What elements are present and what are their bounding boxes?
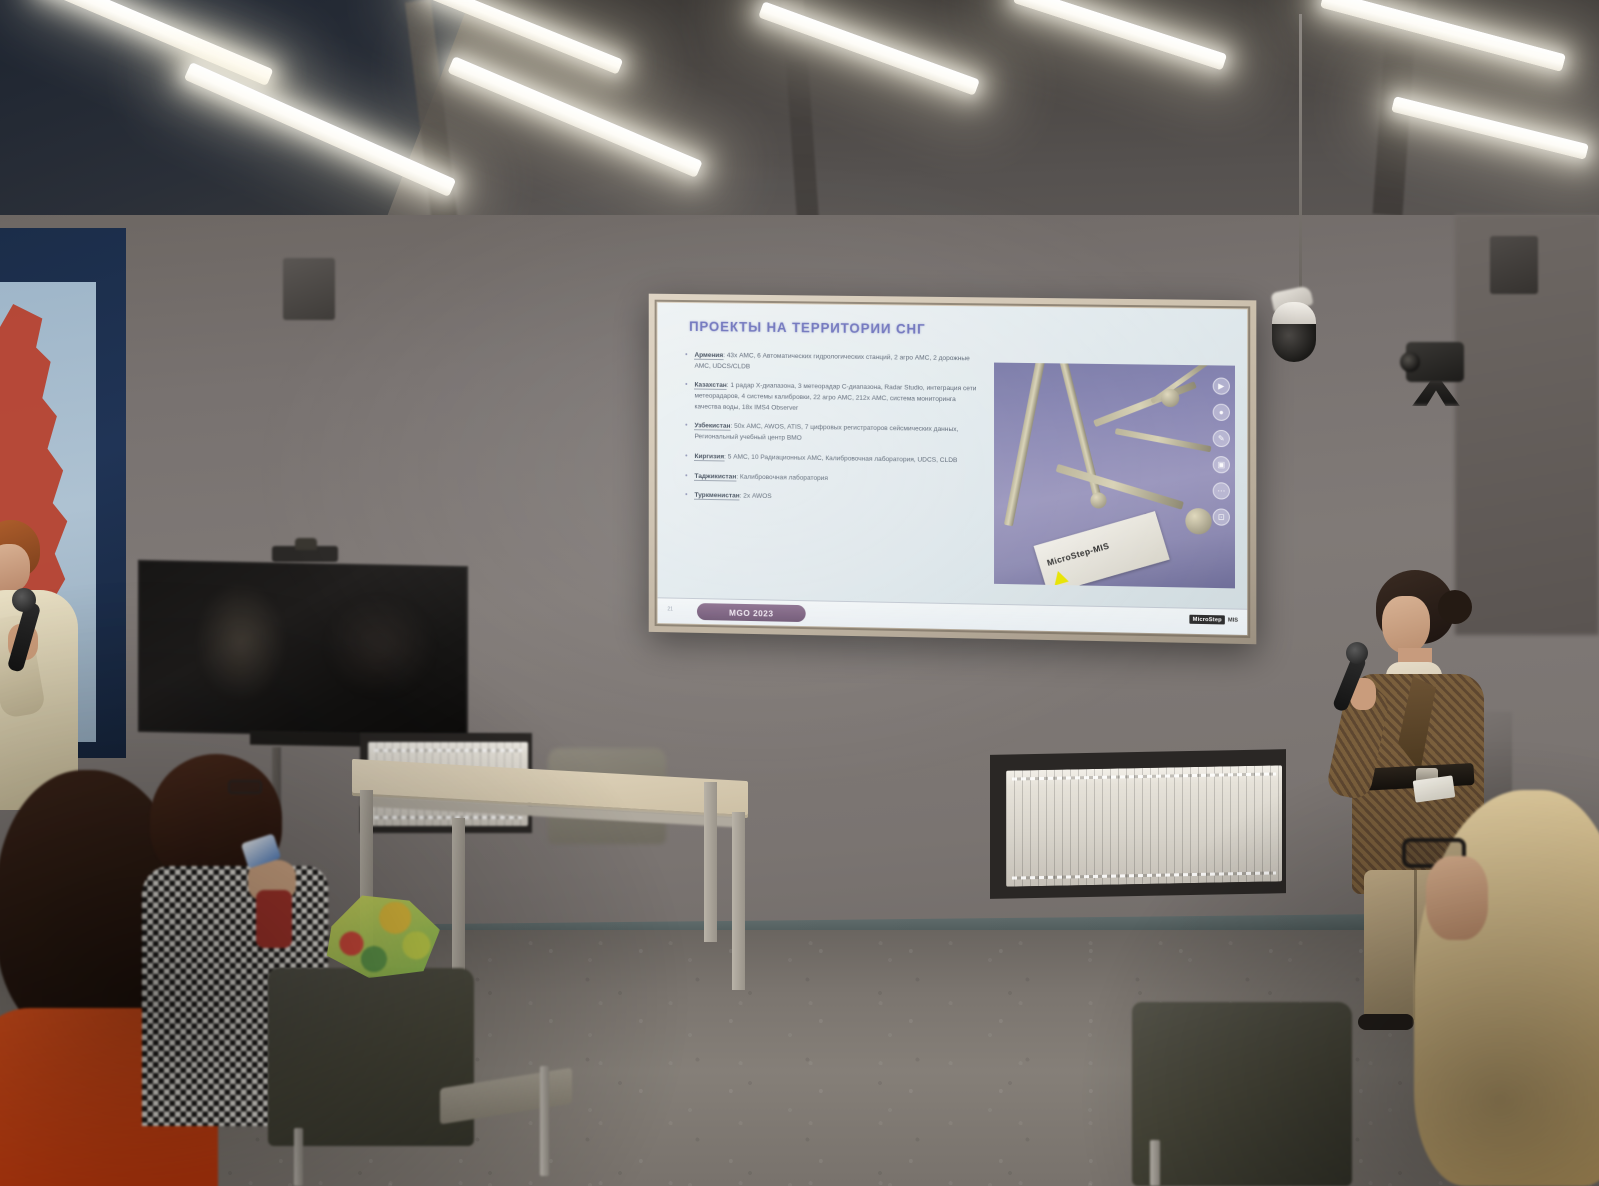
list-item: • Казахстан: 1 радар X-диапазона, 3 мете… [685, 381, 983, 417]
slide-bullet-list: • Армения: 43х AMC, 6 Автоматических гид… [685, 351, 983, 516]
bullet-dot-icon: • [685, 491, 687, 502]
bullet-detail: : 5 AMC, 10 Радиационных AMC, Калибровоч… [724, 453, 957, 464]
record-icon[interactable]: ● [1213, 404, 1230, 421]
presentation-slide: ПРОЕКТЫ НА ТЕРРИТОРИИ СНГ • Армения: 43х… [658, 303, 1248, 635]
slide-number: 21 [667, 606, 672, 612]
camera-lens [1400, 352, 1420, 372]
flat-screen-tv [138, 560, 468, 738]
red-scarf [256, 890, 292, 948]
face [1426, 856, 1488, 940]
bullet-dot-icon: • [685, 351, 687, 372]
radiator [1006, 765, 1282, 886]
bullet-content: Казахстан: 1 радар X-диапазона, 3 метеор… [694, 381, 983, 417]
list-item: • Туркменистан: 2х AWOS [685, 491, 983, 507]
slide-photo: MicroStep-MIS ▶ ● ✎ ▣ ⋯ ⊡ [994, 363, 1235, 589]
bullet-content: Узбекистан: 50х AMC, AWOS, ATIS, 7 цифро… [694, 422, 983, 448]
player-overlay-toolbar[interactable]: ▶ ● ✎ ▣ ⋯ ⊡ [1213, 377, 1230, 525]
play-icon[interactable]: ▶ [1213, 377, 1230, 394]
screen-glare [325, 595, 435, 697]
sensor-head [1090, 492, 1106, 508]
mast-crossbar [1150, 363, 1210, 404]
bullet-content: Киргизия: 5 AMC, 10 Радиационных AMC, Ка… [694, 452, 983, 467]
face [1382, 596, 1430, 654]
wall-speaker [283, 258, 335, 320]
equipment-label-plate: MicroStep-MIS [1034, 511, 1170, 588]
image-icon[interactable]: ▣ [1213, 456, 1230, 473]
glasses [228, 780, 262, 794]
bullet-dot-icon: • [685, 381, 687, 413]
slide-title: ПРОЕКТЫ НА ТЕРРИТОРИИ СНГ [689, 319, 925, 337]
brand-logo: MicroStep MIS [1190, 615, 1238, 625]
tv-mount-knob [295, 538, 317, 550]
bullet-dot-icon: • [685, 452, 687, 463]
brand-suffix: MIS [1228, 617, 1238, 623]
bullet-dot-icon: • [685, 422, 687, 443]
capture-icon[interactable]: ⊡ [1213, 508, 1230, 525]
bullet-country: Таджикистан [694, 472, 736, 481]
mast-pole [1004, 363, 1045, 527]
chair-leg [1150, 1140, 1160, 1186]
mast-arm [1093, 381, 1197, 427]
pen-icon[interactable]: ✎ [1213, 430, 1230, 447]
list-item: • Таджикистан: Калибровочная лаборатория [685, 471, 983, 487]
bullet-content: Туркменистан: 2х AWOS [694, 491, 983, 507]
bullet-dot-icon: • [685, 471, 687, 482]
chair-leg [540, 1066, 549, 1176]
wall-speaker [1490, 236, 1538, 294]
list-item: • Узбекистан: 50х AMC, AWOS, ATIS, 7 циф… [685, 422, 983, 448]
camera-pendant-rod [1299, 14, 1302, 289]
conference-room-photo: ПРОЕКТЫ НА ТЕРРИТОРИИ СНГ • Армения: 43х… [0, 0, 1599, 1186]
bullet-detail: : Калибровочная лаборатория [736, 473, 828, 481]
list-item: • Киргизия: 5 AMC, 10 Радиационных AMC, … [685, 452, 983, 467]
bullet-country: Казахстан [694, 382, 726, 390]
bullet-detail: : 43х AMC, 6 Автоматических гидрологичес… [694, 352, 969, 370]
bullet-country: Киргизия [694, 453, 724, 461]
bullet-content: Таджикистан: Калибровочная лаборатория [694, 471, 983, 486]
bullet-detail: : 50х AMC, AWOS, ATIS, 7 цифровых регист… [694, 423, 958, 442]
table-leg [452, 818, 465, 993]
bullet-country: Туркменистан [694, 492, 739, 501]
mast-arm [1115, 428, 1212, 452]
list-item: • Армения: 43х AMC, 6 Автоматических гид… [685, 351, 983, 376]
speaker-left [0, 520, 92, 810]
bullet-detail: : 2х AWOS [740, 493, 772, 500]
screen-glare [196, 581, 286, 703]
anemometer-sensor [1185, 508, 1211, 535]
audience-member-blonde [1366, 790, 1599, 1186]
status-badge: MGO 2023 [697, 603, 806, 622]
microphone-head [12, 588, 36, 612]
brand-mark: MicroStep [1190, 615, 1225, 625]
chair-back [1132, 1002, 1352, 1186]
bullet-content: Армения: 43х AMC, 6 Автоматических гидро… [694, 351, 983, 376]
microphone-head [1346, 642, 1368, 664]
more-icon[interactable]: ⋯ [1213, 482, 1230, 499]
hair-bun [1438, 590, 1472, 624]
sensor-head [1161, 389, 1179, 407]
mast-arm [1056, 464, 1184, 510]
face [0, 544, 30, 592]
photo-brand-label: MicroStep-MIS [1046, 541, 1111, 568]
bullet-country: Узбекистан [694, 423, 730, 431]
bullet-country: Армения [694, 352, 723, 360]
table-leg [732, 812, 745, 990]
hazard-warning-icon [1050, 568, 1069, 586]
projection-screen: ПРОЕКТЫ НА ТЕРРИТОРИИ СНГ • Армения: 43х… [649, 294, 1257, 645]
chair-leg [294, 1128, 303, 1186]
bullet-detail: : 1 радар X-диапазона, 3 метеорадар C-ди… [694, 382, 976, 411]
table-leg [704, 782, 717, 942]
